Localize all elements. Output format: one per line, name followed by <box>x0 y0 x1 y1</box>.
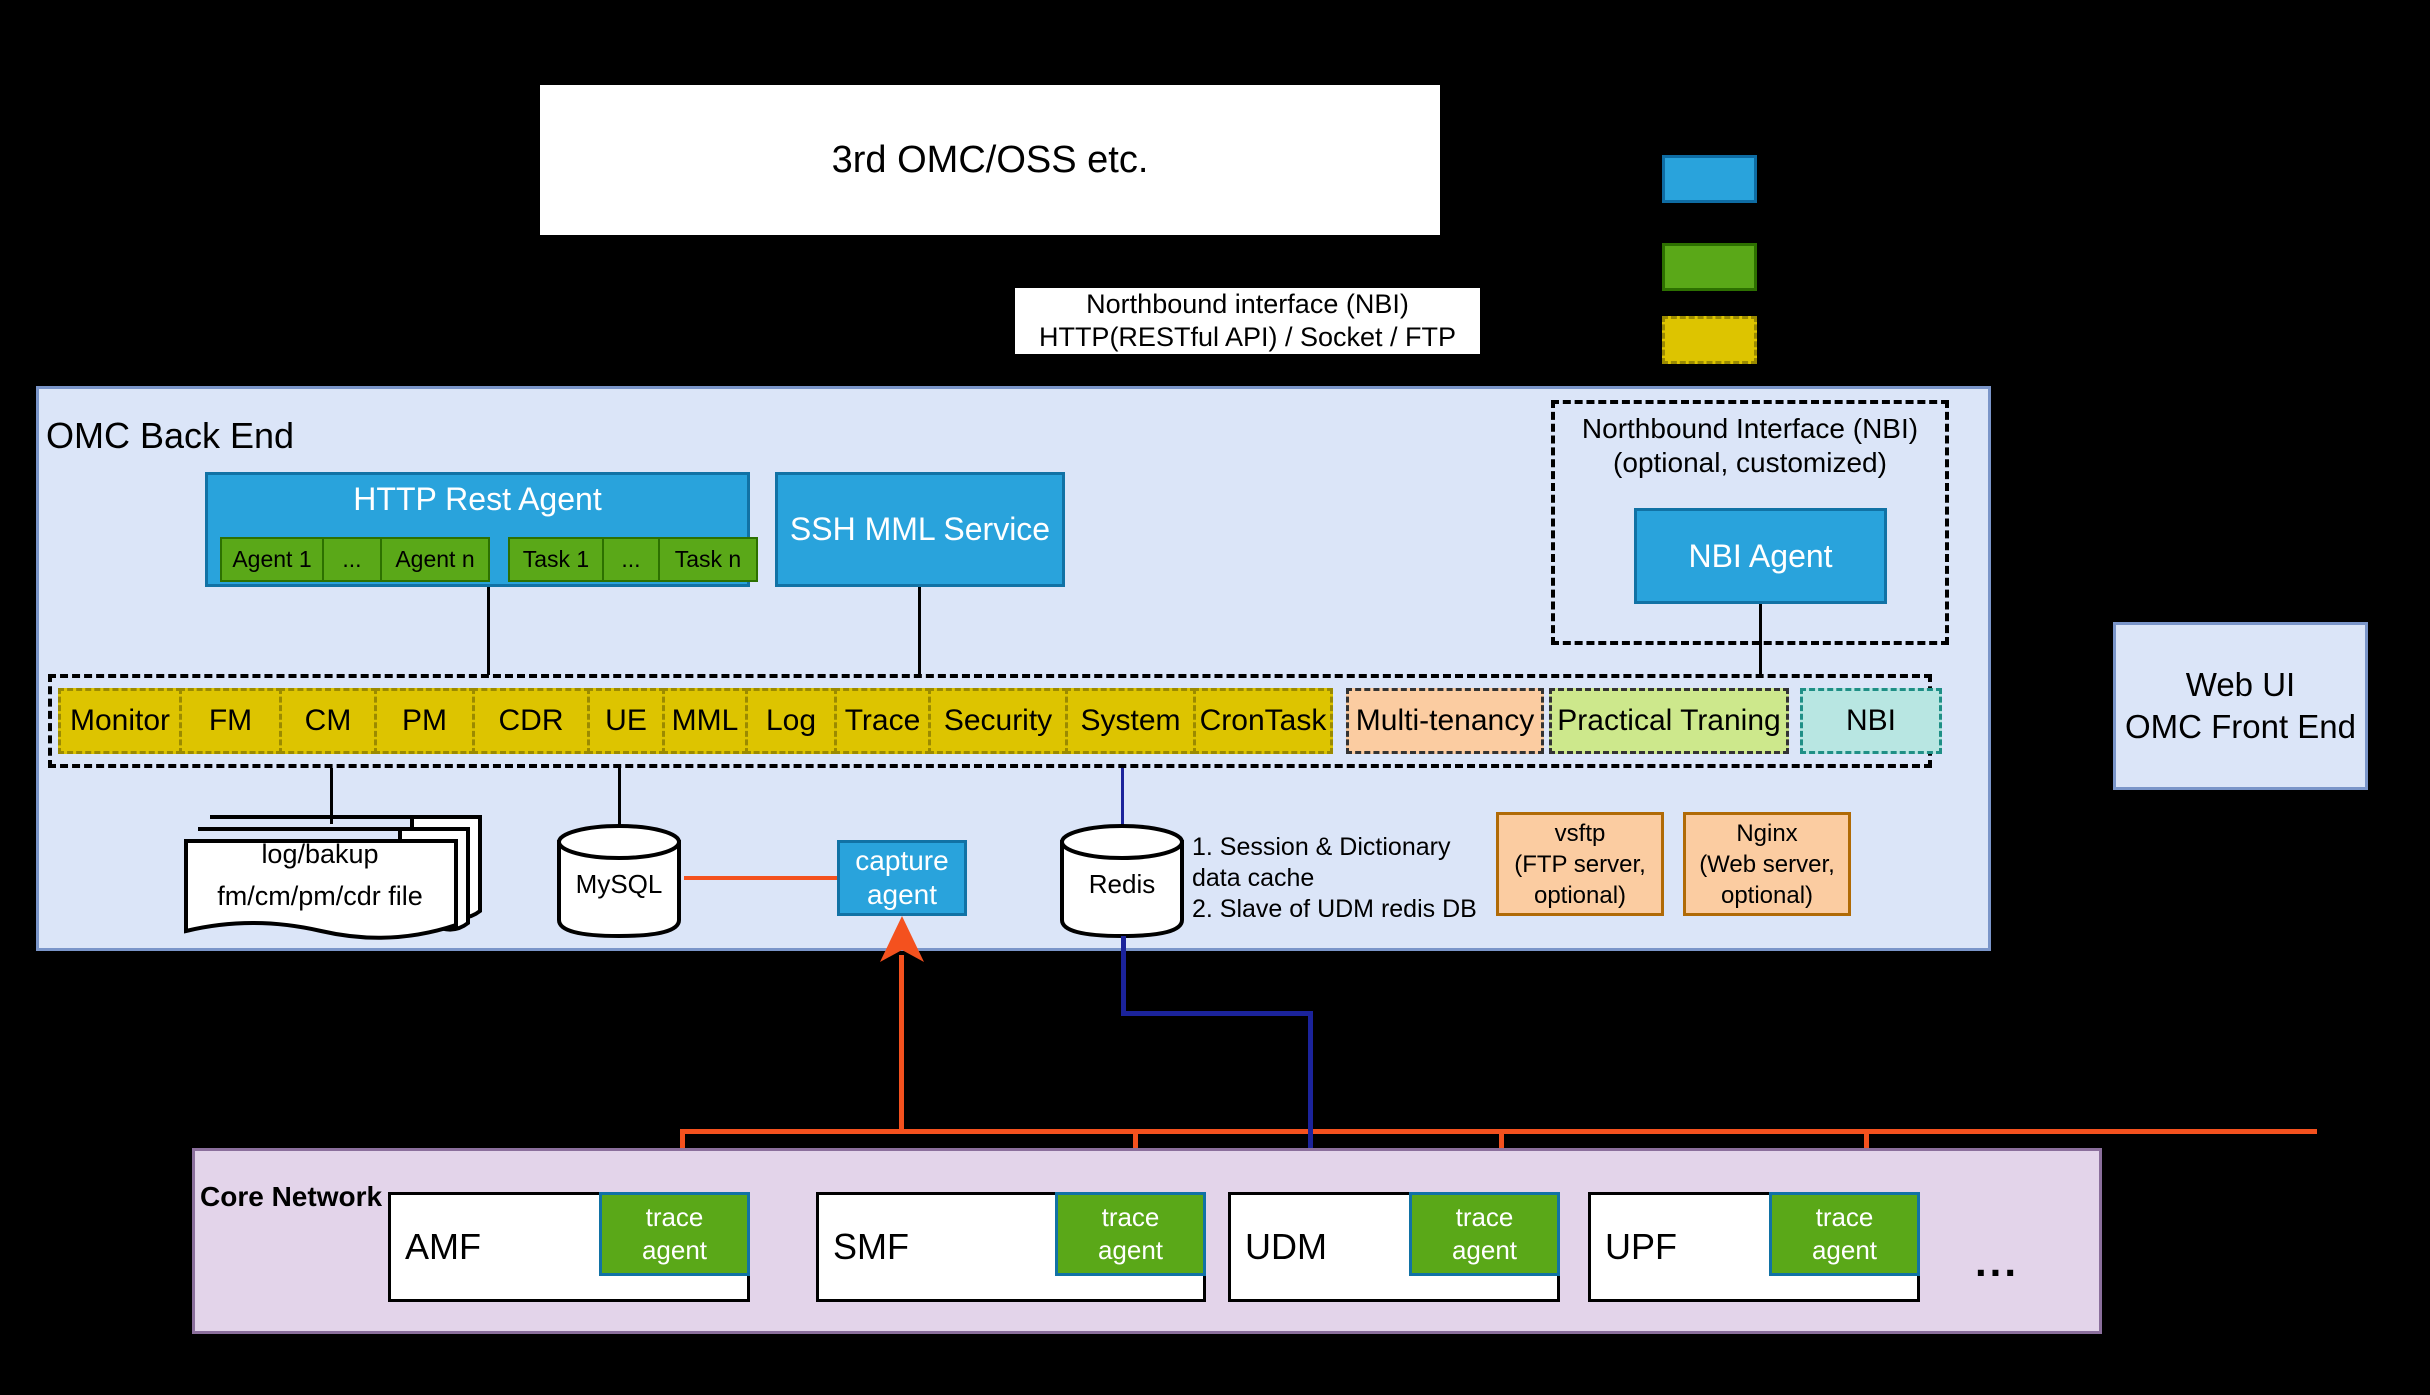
connector-redis-trunk <box>1121 936 1126 1015</box>
nbi-region-line2: (optional, customized) <box>1555 446 1945 480</box>
mysql-label: MySQL <box>554 869 684 900</box>
legend-swatch-blue <box>1662 155 1757 203</box>
udm-label: UDM <box>1245 1226 1327 1268</box>
module-ue[interactable]: UE <box>587 688 665 754</box>
network-function-udm[interactable]: UDM trace agent <box>1228 1192 1560 1302</box>
redis-note-line3: 2. Slave of UDM redis DB <box>1192 894 1482 925</box>
vsftp-server-box: vsftp (FTP server, optional) <box>1496 812 1664 916</box>
http-rest-agent-box[interactable]: HTTP Rest Agent Agent 1 ... Agent n Task… <box>205 472 750 587</box>
agent-chip[interactable]: Agent n <box>380 537 490 582</box>
nbi-protocol-box: Northbound interface (NBI) HTTP(RESTful … <box>1015 288 1480 354</box>
connector-bus-to-mysql <box>618 768 621 830</box>
docstack-line1: log/bakup <box>180 833 460 875</box>
module-spacer <box>1541 688 1549 754</box>
nbi-agent-box[interactable]: NBI Agent <box>1634 508 1887 604</box>
nginx-line3: optional) <box>1721 880 1813 911</box>
agent-chip-group: Agent 1 ... Agent n <box>220 537 490 582</box>
trace-agent-line2: agent <box>1452 1234 1517 1267</box>
network-function-upf[interactable]: UPF trace agent <box>1588 1192 1920 1302</box>
connector-http-rest-agent-to-bus <box>487 587 490 675</box>
mysql-database: MySQL <box>554 822 684 940</box>
trace-agent-udm[interactable]: trace agent <box>1409 1192 1560 1276</box>
nginx-line1: Nginx <box>1736 818 1797 849</box>
nbi-protocol-line2: HTTP(RESTful API) / Socket / FTP <box>1039 321 1456 354</box>
vsftp-line2: (FTP server, <box>1514 849 1646 880</box>
module-cm[interactable]: CM <box>279 688 377 754</box>
module-system[interactable]: System <box>1065 688 1196 754</box>
redis-label: Redis <box>1057 869 1187 900</box>
nbi-agent-label: NBI Agent <box>1688 538 1832 575</box>
task-chip[interactable]: Task n <box>658 537 758 582</box>
network-function-amf[interactable]: AMF trace agent <box>388 1192 750 1302</box>
network-function-smf[interactable]: SMF trace agent <box>816 1192 1206 1302</box>
module-practical-traning[interactable]: Practical Traning <box>1549 688 1789 754</box>
connector-mysql-to-capture-agent <box>684 876 839 880</box>
task-chip[interactable]: Task 1 <box>508 537 604 582</box>
module-pm[interactable]: PM <box>374 688 475 754</box>
nbi-region-label: Northbound Interface (NBI) (optional, cu… <box>1555 412 1945 480</box>
vsftp-line1: vsftp <box>1555 818 1606 849</box>
legend-swatch-yellow <box>1662 316 1757 364</box>
capture-agent-line1: capture <box>855 844 948 878</box>
third-party-label: 3rd OMC/OSS etc. <box>832 139 1149 182</box>
connector-nbi-agent-to-bus <box>1759 604 1762 676</box>
module-fm[interactable]: FM <box>179 688 282 754</box>
module-spacer <box>1330 688 1346 754</box>
trace-agent-line1: trace <box>1456 1201 1514 1234</box>
task-chip-ellipsis: ... <box>602 537 660 582</box>
document-stack-label: log/bakup fm/cm/pm/cdr file <box>180 833 460 917</box>
redis-note: 1. Session & Dictionary data cache 2. Sl… <box>1192 832 1482 925</box>
task-chip-group: Task 1 ... Task n <box>508 537 758 582</box>
redis-note-line1: 1. Session & Dictionary <box>1192 832 1482 863</box>
service-bus-region: Monitor FM CM PM CDR UE MML Log Trace Se… <box>48 674 1932 768</box>
core-network-title: Core Network <box>200 1181 382 1213</box>
module-crontask[interactable]: CronTask <box>1193 688 1333 754</box>
trace-agent-line2: agent <box>1812 1234 1877 1267</box>
third-party-omc-oss-box: 3rd OMC/OSS etc. <box>540 85 1440 235</box>
connector-redis-horizontal <box>1121 1011 1313 1016</box>
omc-back-end-title: OMC Back End <box>46 415 294 457</box>
log-backup-document-stack: log/bakup fm/cm/pm/cdr file <box>180 805 490 940</box>
trace-agent-upf[interactable]: trace agent <box>1769 1192 1920 1276</box>
upf-label: UPF <box>1605 1226 1677 1268</box>
module-mml[interactable]: MML <box>662 688 748 754</box>
agent-chip-ellipsis: ... <box>322 537 382 582</box>
service-module-row: Monitor FM CM PM CDR UE MML Log Trace Se… <box>58 688 1939 754</box>
nginx-server-box: Nginx (Web server, optional) <box>1683 812 1851 916</box>
module-monitor[interactable]: Monitor <box>58 688 182 754</box>
trace-agent-line1: trace <box>1102 1201 1160 1234</box>
trace-agent-line1: trace <box>646 1201 704 1234</box>
nginx-line2: (Web server, <box>1699 849 1835 880</box>
module-security[interactable]: Security <box>928 688 1068 754</box>
web-ui-line1: Web UI <box>2186 664 2295 706</box>
redis-database: Redis <box>1057 822 1187 940</box>
module-trace[interactable]: Trace <box>834 688 931 754</box>
smf-label: SMF <box>833 1226 909 1268</box>
capture-agent-box[interactable]: capture agent <box>837 840 967 916</box>
web-ui-line2: OMC Front End <box>2125 706 2356 748</box>
module-spacer <box>1786 688 1800 754</box>
capture-agent-line2: agent <box>867 878 937 912</box>
connector-nbi-to-backend <box>1000 354 1003 388</box>
trace-agent-smf[interactable]: trace agent <box>1055 1192 1206 1276</box>
legend-swatch-green <box>1662 243 1757 291</box>
trace-agent-line2: agent <box>1098 1234 1163 1267</box>
vsftp-line3: optional) <box>1534 880 1626 911</box>
trace-agent-line1: trace <box>1816 1201 1874 1234</box>
amf-label: AMF <box>405 1226 481 1268</box>
nbi-region-line1: Northbound Interface (NBI) <box>1555 412 1945 446</box>
module-nbi[interactable]: NBI <box>1800 688 1942 754</box>
web-ui-front-end-box: Web UI OMC Front End <box>2113 622 2368 790</box>
module-multi-tenancy[interactable]: Multi-tenancy <box>1346 688 1544 754</box>
docstack-line2: fm/cm/pm/cdr file <box>180 875 460 917</box>
ssh-mml-service-box[interactable]: SSH MML Service <box>775 472 1065 587</box>
module-log[interactable]: Log <box>745 688 837 754</box>
agent-chip[interactable]: Agent 1 <box>220 537 324 582</box>
connector-capture-agent-trunk <box>899 955 904 1133</box>
ssh-mml-label: SSH MML Service <box>790 511 1050 548</box>
nbi-protocol-line1: Northbound interface (NBI) <box>1086 288 1409 321</box>
module-cdr[interactable]: CDR <box>472 688 590 754</box>
http-rest-agent-title: HTTP Rest Agent <box>208 481 747 518</box>
redis-note-line2: data cache <box>1192 863 1482 894</box>
trace-agent-line2: agent <box>642 1234 707 1267</box>
connector-ssh-mml-to-bus <box>918 587 921 675</box>
connector-bus-to-redis <box>1121 768 1124 830</box>
core-network-ellipsis: ... <box>1975 1238 2019 1286</box>
trace-agent-amf[interactable]: trace agent <box>599 1192 750 1276</box>
